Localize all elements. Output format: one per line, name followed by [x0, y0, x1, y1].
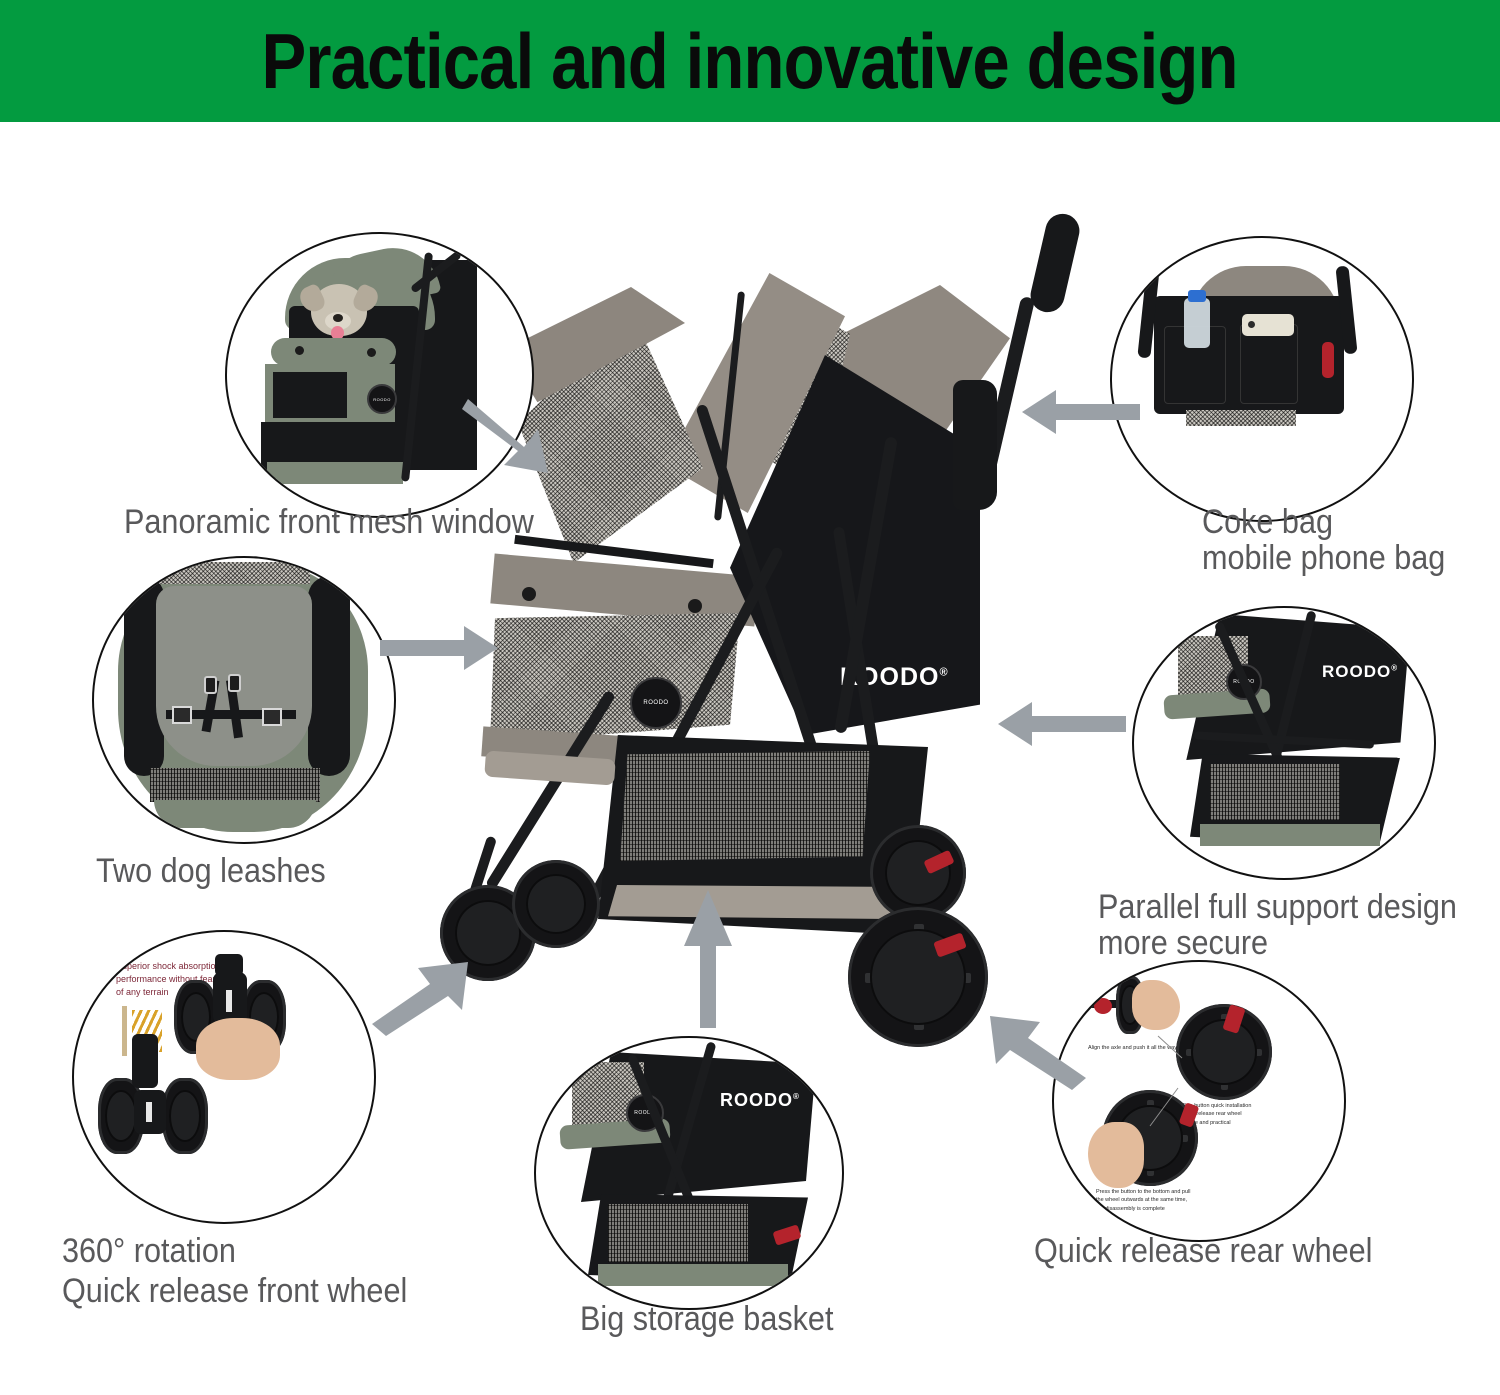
photo-lower-window [273, 372, 347, 418]
photo-dog-nose [333, 314, 343, 322]
support-photo-brand-text: ROODO [1322, 662, 1391, 681]
callout-storage-basket: ROODO® ROODO [534, 1036, 844, 1310]
spring-bracket [122, 1006, 127, 1056]
arrow-basket-to-product [680, 890, 736, 1030]
caption-storage-basket: Big storage basket [580, 1300, 833, 1338]
callout-front-wheel: Superior shock absorption performance wi… [72, 930, 376, 1224]
basket-photo-brand-text: ROODO [720, 1090, 793, 1110]
support-photo-basket-mesh [1210, 764, 1340, 820]
leash-clip-a [204, 676, 217, 694]
support-photo-brand: ROODO® [1322, 662, 1398, 682]
caption-two-dog-leashes: Two dog leashes [96, 852, 326, 890]
leash-photo-canopy-mesh [160, 562, 310, 584]
cokebag-pocket-right [1240, 324, 1298, 404]
lower-front-mesh [490, 613, 740, 743]
caption-front-wheel-line-2: Quick release front wheel [62, 1272, 407, 1310]
callout-coke-bag [1110, 236, 1414, 522]
photo-seat-tray [271, 338, 396, 366]
basket-bottom-trim [608, 885, 908, 919]
rear-wheel-spoke-2 [914, 983, 924, 1031]
hand-holding-front-wheel [196, 1018, 280, 1080]
band-rivet-right [688, 599, 702, 613]
basket-photo-basket-mesh [608, 1204, 748, 1262]
front-wheel-inset-line-1: Superior shock absorption [116, 960, 266, 973]
lower-axle-arrow [146, 1102, 152, 1122]
basket-mesh [620, 751, 870, 861]
band-rivet-left [522, 587, 536, 601]
arrow-cokebag-to-product [1022, 386, 1140, 438]
upper-axle-stem [215, 954, 243, 976]
callout-rear-wheel: Align the axle and push it all the way O… [1052, 960, 1346, 1242]
rear-wheel-spoke-3 [865, 973, 913, 983]
water-bottle-cap [1188, 290, 1206, 302]
arrow-front-wheel-to-product [372, 958, 482, 1038]
callout-two-dog-leashes [92, 556, 396, 844]
detached-axle-pin [132, 1034, 158, 1088]
rear-wheel-main [848, 907, 988, 1047]
callout-parallel-support: ROODO® ROODO [1132, 606, 1436, 880]
side-pocket [953, 380, 997, 510]
leash-clip-b [228, 674, 241, 692]
caption-coke-bag-line-2: mobile phone bag [1202, 539, 1445, 577]
rear-wheel-leader-lines [1054, 962, 1344, 1240]
rear-wheel-hub-main [898, 957, 937, 996]
caption-parallel-support-line-2: more secure [1098, 924, 1268, 962]
page-title: Practical and innovative design [262, 22, 1238, 100]
rear-wheel-spoke-1 [914, 924, 924, 972]
caption-coke-bag-line-1: Coke bag [1202, 503, 1333, 541]
roodo-badge-label: ROODO [643, 700, 668, 706]
support-photo-basket-trim [1200, 824, 1380, 846]
caption-panoramic-window: Panoramic front mesh window [124, 503, 534, 541]
handle-grip [1027, 210, 1083, 315]
front-wheel-hub [475, 920, 502, 947]
front-wheel-right [512, 860, 600, 948]
brand-registered-mark: ® [939, 667, 948, 679]
photo-tray-rivet-2 [367, 348, 376, 357]
basket-photo-brand-mark: ® [793, 1092, 800, 1101]
photo-tray-rivet-1 [295, 346, 304, 355]
leash-photo-front-trim [154, 800, 316, 828]
arrow-panoramic-to-product [462, 385, 572, 480]
basket-photo-brand: ROODO® [720, 1090, 800, 1111]
photo-roodo-badge: ROODO [367, 384, 397, 414]
lower-wheel-right [162, 1078, 208, 1154]
caption-front-wheel-line-1: 360° rotation [62, 1232, 236, 1270]
front-wheel-hub-2 [544, 892, 569, 917]
photo-badge-label: ROODO [373, 397, 391, 402]
leash-buckle-left [172, 706, 192, 724]
roodo-badge: ROODO [630, 677, 682, 729]
arrow-support-to-product [998, 698, 1126, 750]
cokebag-lower-mesh [1186, 410, 1296, 426]
cokebag-red-hook [1322, 342, 1334, 378]
leash-photo-front-mesh [150, 768, 320, 802]
water-bottle-body [1184, 298, 1210, 348]
basket-photo-bottom-trim [598, 1264, 788, 1286]
arrow-leashes-to-product [380, 622, 500, 674]
phone-camera [1248, 321, 1255, 328]
caption-parallel-support-line-1: Parallel full support design [1098, 888, 1457, 926]
header-banner: Practical and innovative design [0, 0, 1500, 122]
rear-wheel-spoke-4 [924, 973, 972, 983]
support-photo-brand-mark: ® [1391, 663, 1398, 672]
leash-buckle-right [262, 708, 282, 726]
photo-basket-trim [267, 462, 403, 484]
upper-axle-arrow [226, 990, 232, 1012]
caption-rear-wheel: Quick release rear wheel [1034, 1232, 1372, 1270]
arrow-rearwheel-to-product [978, 1012, 1088, 1090]
leash-photo-sidewall-right [308, 576, 350, 776]
